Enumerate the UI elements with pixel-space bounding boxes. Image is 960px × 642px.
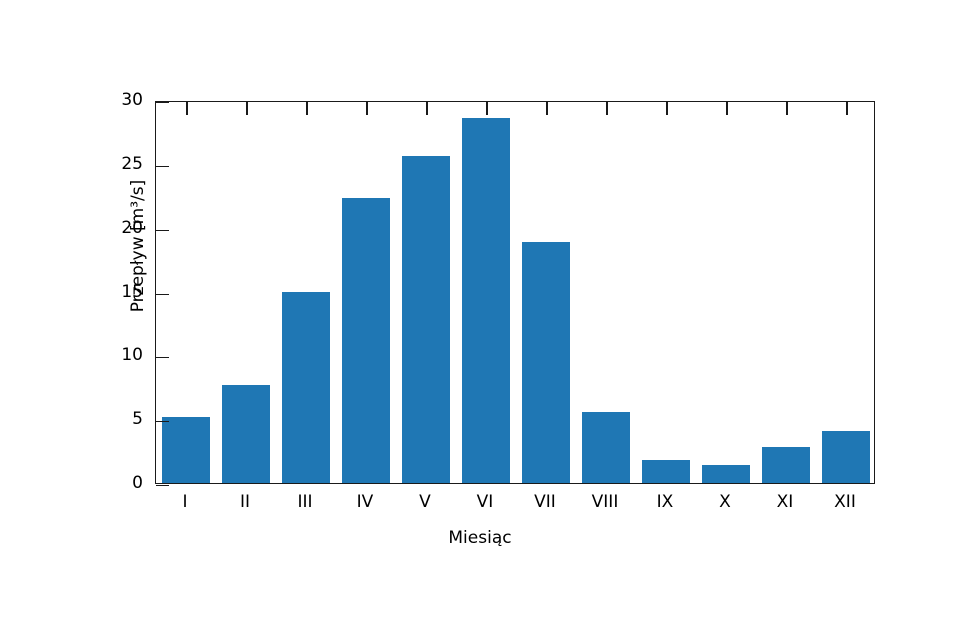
bar — [582, 412, 630, 483]
x-tick-mark — [846, 102, 848, 115]
bar — [702, 465, 750, 483]
x-tick-mark — [546, 102, 548, 115]
bar — [462, 118, 510, 483]
plot-area — [155, 101, 875, 484]
x-tick-label: VII — [534, 492, 556, 512]
x-tick-label: I — [182, 492, 187, 512]
bar — [162, 417, 210, 483]
y-tick-label: 5 — [0, 409, 143, 429]
x-tick-mark — [486, 102, 488, 115]
bar — [402, 156, 450, 483]
x-tick-mark — [246, 102, 248, 115]
x-tick-label: XII — [834, 492, 856, 512]
bar — [642, 460, 690, 483]
y-tick-label: 20 — [0, 218, 143, 238]
y-tick-label: 25 — [0, 154, 143, 174]
y-tick-label: 10 — [0, 345, 143, 365]
bar — [822, 431, 870, 483]
bar — [762, 447, 810, 483]
chart-figure: Przepływ [m³/s] Miesiąc 051015202530 III… — [0, 0, 960, 642]
y-tick-mark — [156, 102, 169, 103]
x-tick-label: X — [719, 492, 731, 512]
x-tick-label: II — [240, 492, 250, 512]
x-tick-label: XI — [777, 492, 794, 512]
x-tick-mark — [426, 102, 428, 115]
x-tick-mark — [606, 102, 608, 115]
x-tick-mark — [726, 102, 728, 115]
x-tick-label: V — [419, 492, 431, 512]
x-tick-label: III — [297, 492, 312, 512]
bar — [282, 292, 330, 484]
y-tick-mark — [156, 421, 169, 422]
y-tick-label: 30 — [0, 90, 143, 110]
y-tick-mark — [156, 166, 169, 167]
y-tick-label: 15 — [0, 282, 143, 302]
x-tick-mark — [186, 102, 188, 115]
x-tick-label: IV — [357, 492, 374, 512]
y-tick-label: 0 — [0, 473, 143, 493]
y-tick-mark — [156, 485, 169, 486]
x-tick-label: IX — [657, 492, 674, 512]
bar — [522, 242, 570, 483]
x-tick-mark — [786, 102, 788, 115]
y-tick-mark — [156, 357, 169, 358]
x-tick-mark — [306, 102, 308, 115]
x-tick-mark — [366, 102, 368, 115]
y-tick-mark — [156, 294, 169, 295]
bar — [342, 198, 390, 483]
x-tick-label: VIII — [592, 492, 619, 512]
bars-layer — [156, 102, 874, 483]
x-tick-label: VI — [477, 492, 494, 512]
x-tick-mark — [666, 102, 668, 115]
x-axis-label: Miesiąc — [0, 528, 960, 548]
y-tick-mark — [156, 230, 169, 231]
bar — [222, 385, 270, 483]
